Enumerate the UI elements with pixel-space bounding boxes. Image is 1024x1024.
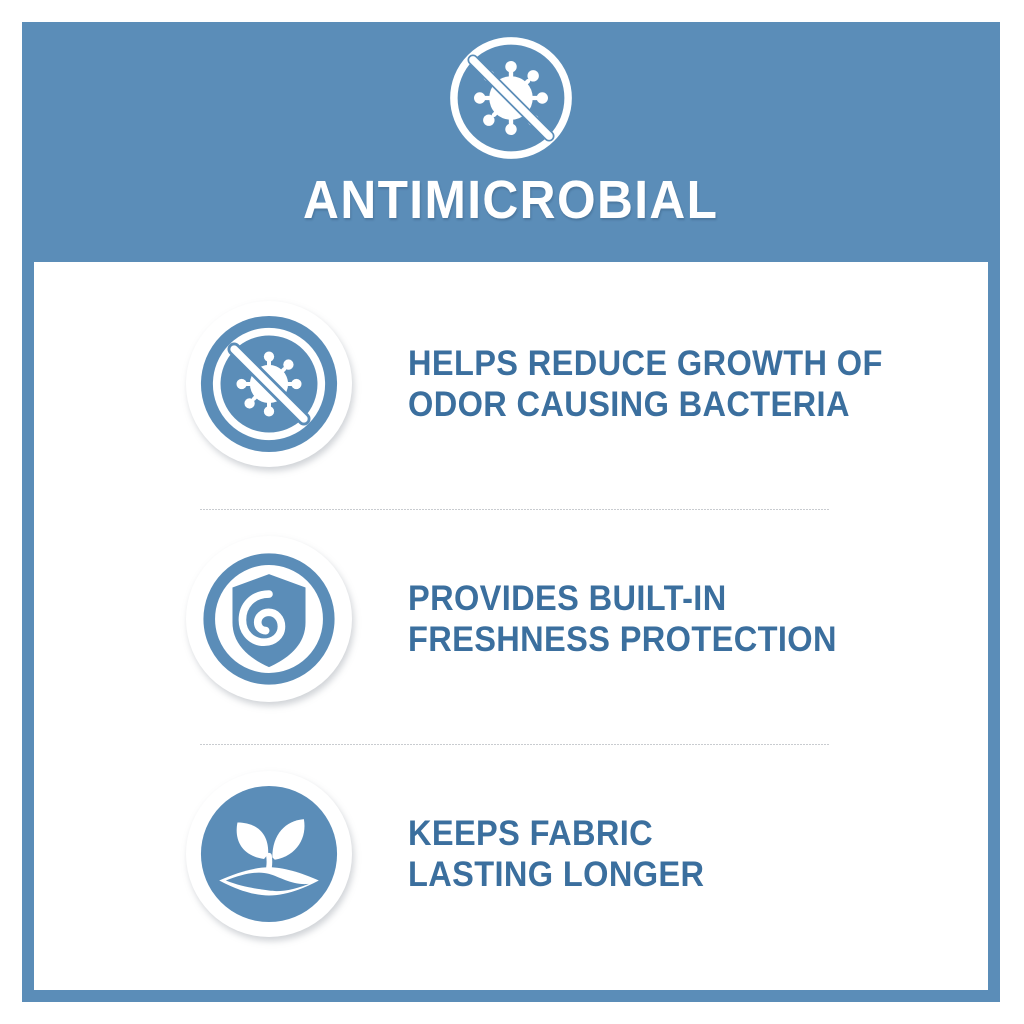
row-divider [200, 509, 830, 510]
feature-row: KEEPS FABRIC LASTING LONGER [34, 754, 988, 954]
no-virus-icon [443, 30, 579, 166]
feature-text: KEEPS FABRIC LASTING LONGER [408, 813, 704, 895]
feature-icon-wrap [186, 771, 352, 937]
feature-text-line1: PROVIDES BUILT-IN [408, 578, 837, 619]
feature-text-line2: LASTING LONGER [408, 854, 704, 895]
feature-icon-wrap [186, 301, 352, 467]
page-title: ANTIMICROBIAL [303, 172, 718, 228]
feature-text: HELPS REDUCE GROWTH OF ODOR CAUSING BACT… [408, 343, 883, 425]
icon-disc [186, 536, 352, 702]
antimicrobial-infographic: ANTIMICROBIAL [0, 0, 1024, 1024]
feature-row: HELPS REDUCE GROWTH OF ODOR CAUSING BACT… [34, 284, 988, 484]
feature-text-line2: FRESHNESS PROTECTION [408, 619, 837, 660]
header-banner: ANTIMICROBIAL [22, 22, 1000, 262]
no-virus-icon [186, 301, 352, 467]
icon-disc [186, 771, 352, 937]
feature-text: PROVIDES BUILT-IN FRESHNESS PROTECTION [408, 578, 837, 660]
features-panel: HELPS REDUCE GROWTH OF ODOR CAUSING BACT… [34, 262, 988, 990]
feature-row: PROVIDES BUILT-IN FRESHNESS PROTECTION [34, 519, 988, 719]
feature-text-line1: HELPS REDUCE GROWTH OF [408, 343, 883, 384]
icon-disc [186, 301, 352, 467]
shield-swirl-icon [186, 536, 352, 702]
feature-icon-wrap [186, 536, 352, 702]
feature-text-line1: KEEPS FABRIC [408, 813, 704, 854]
feature-text-line2: ODOR CAUSING BACTERIA [408, 384, 883, 425]
row-divider [200, 744, 830, 745]
leaf-sprout-icon [186, 771, 352, 937]
